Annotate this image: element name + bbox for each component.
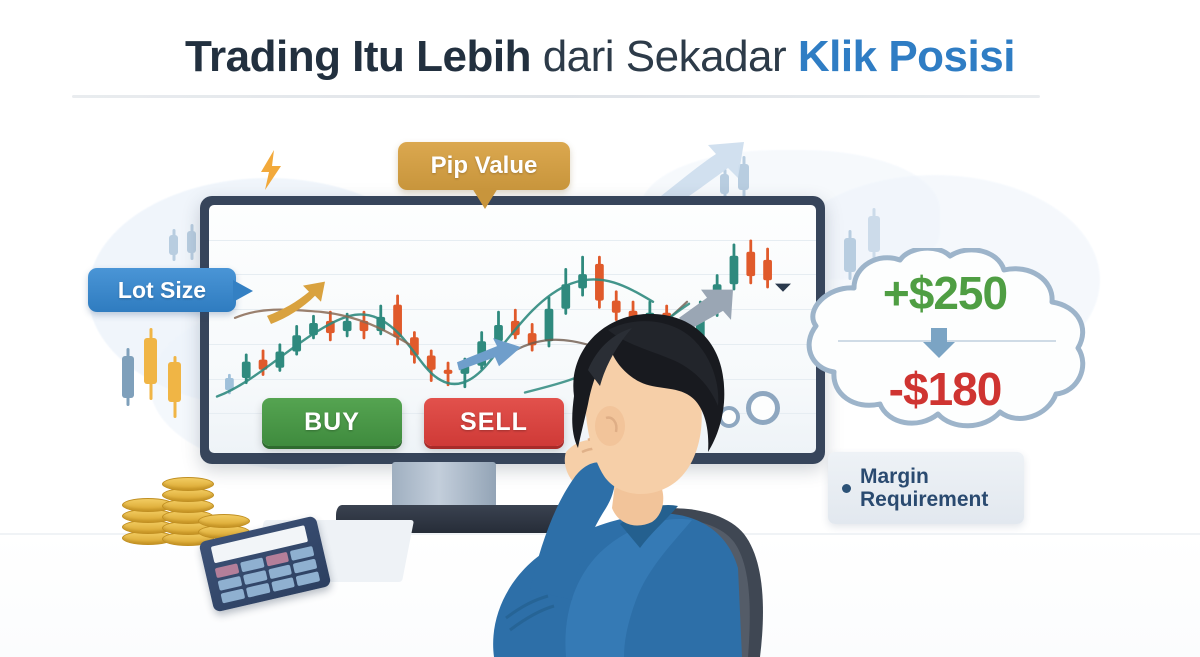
gold-marker-arrow [267, 282, 325, 324]
thought-cloud-content: +$250 -$180 [790, 248, 1100, 433]
loss-value: -$180 [889, 362, 1002, 416]
lot-size-callout[interactable]: Lot Size [88, 268, 236, 312]
candlestick [746, 252, 755, 276]
thought-cloud: +$250 -$180 [790, 248, 1100, 433]
candlestick [427, 356, 436, 370]
margin-requirement-label: Margin Requirement [860, 465, 988, 511]
candlestick [595, 264, 604, 301]
page-title: Trading Itu Lebih dari Sekadar Klik Posi… [0, 34, 1200, 80]
candlestick [730, 256, 739, 285]
candlestick [242, 362, 251, 378]
pip-value-callout[interactable]: Pip Value [398, 142, 570, 190]
page-title-part-regular: dari Sekadar [543, 32, 798, 81]
chart-marker-dot [775, 284, 791, 292]
margin-line-1: Margin [860, 465, 988, 488]
margin-requirement-card[interactable]: Margin Requirement [828, 452, 1024, 524]
lot-size-callout-tail [233, 280, 253, 302]
person-illustration [470, 300, 790, 657]
person-figure [470, 300, 790, 657]
page-title-part-bold: Trading Itu Lebih [185, 32, 543, 81]
profit-value: +$250 [883, 266, 1007, 320]
candlestick [444, 370, 453, 374]
title-divider [72, 95, 1040, 98]
candlestick [763, 260, 772, 280]
bullet-icon [842, 484, 851, 493]
page-title-part-accent: Klik Posisi [798, 32, 1015, 81]
title-block: Trading Itu Lebih dari Sekadar Klik Posi… [0, 34, 1200, 80]
buy-button[interactable]: BUY [262, 398, 402, 446]
pip-value-callout-tail [472, 188, 498, 209]
candlestick [343, 321, 352, 331]
illustration-canvas: Trading Itu Lebih dari Sekadar Klik Posi… [0, 0, 1200, 657]
lightning-bolt-icon [258, 150, 284, 190]
margin-line-2: Requirement [860, 488, 988, 511]
